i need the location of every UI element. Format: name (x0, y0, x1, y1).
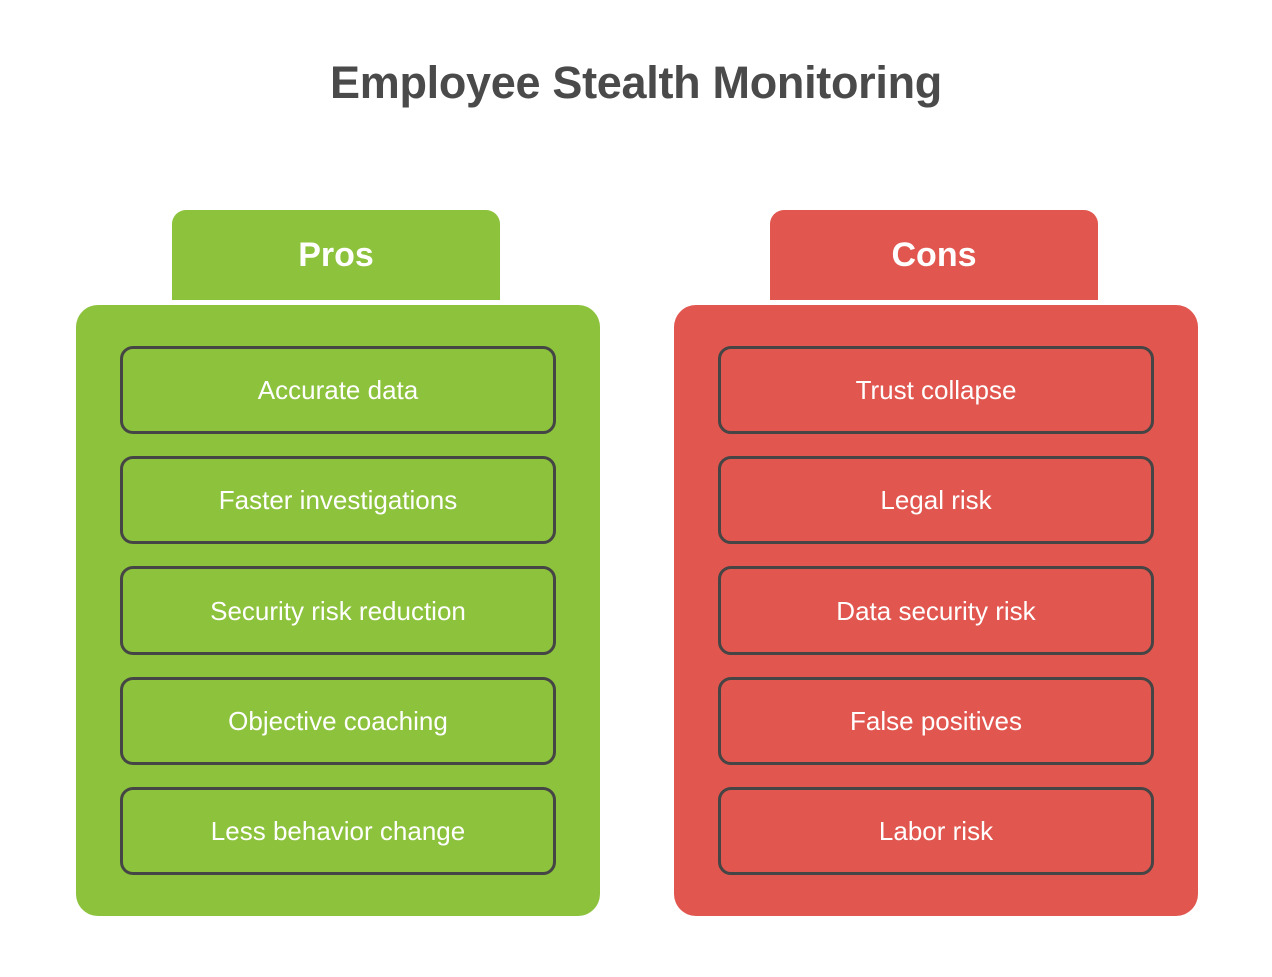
pros-item-label: Less behavior change (211, 816, 465, 846)
pros-item-label: Security risk reduction (210, 596, 466, 626)
pros-item[interactable]: Objective coaching (120, 677, 556, 765)
pros-item-label: Accurate data (258, 375, 418, 405)
cons-item-label: Data security risk (836, 596, 1035, 626)
pros-panel: Accurate data Faster investigations Secu… (76, 305, 600, 916)
pros-header-label: Pros (298, 236, 374, 274)
page-title: Employee Stealth Monitoring (0, 52, 1272, 114)
cons-item-label: Labor risk (879, 816, 993, 846)
pros-item-label: Objective coaching (228, 706, 448, 736)
cons-item-label: Trust collapse (856, 375, 1017, 405)
cons-item[interactable]: Labor risk (718, 787, 1154, 875)
pros-cons-comparison: Pros Accurate data Faster investigations… (0, 210, 1272, 920)
pros-item[interactable]: Security risk reduction (120, 566, 556, 654)
cons-item-label: False positives (850, 706, 1022, 736)
pros-column: Pros Accurate data Faster investigations… (76, 210, 600, 916)
pros-item-label: Faster investigations (219, 485, 457, 515)
cons-item[interactable]: Legal risk (718, 456, 1154, 544)
cons-item[interactable]: Data security risk (718, 566, 1154, 654)
cons-item[interactable]: False positives (718, 677, 1154, 765)
cons-column: Cons Trust collapse Legal risk Data secu… (674, 210, 1198, 916)
cons-item[interactable]: Trust collapse (718, 346, 1154, 434)
cons-header-label: Cons (892, 236, 977, 274)
pros-header-tab: Pros (172, 210, 500, 300)
pros-item[interactable]: Faster investigations (120, 456, 556, 544)
cons-panel: Trust collapse Legal risk Data security … (674, 305, 1198, 916)
pros-item[interactable]: Accurate data (120, 346, 556, 434)
pros-item[interactable]: Less behavior change (120, 787, 556, 875)
cons-header-tab: Cons (770, 210, 1098, 300)
cons-item-label: Legal risk (880, 485, 991, 515)
